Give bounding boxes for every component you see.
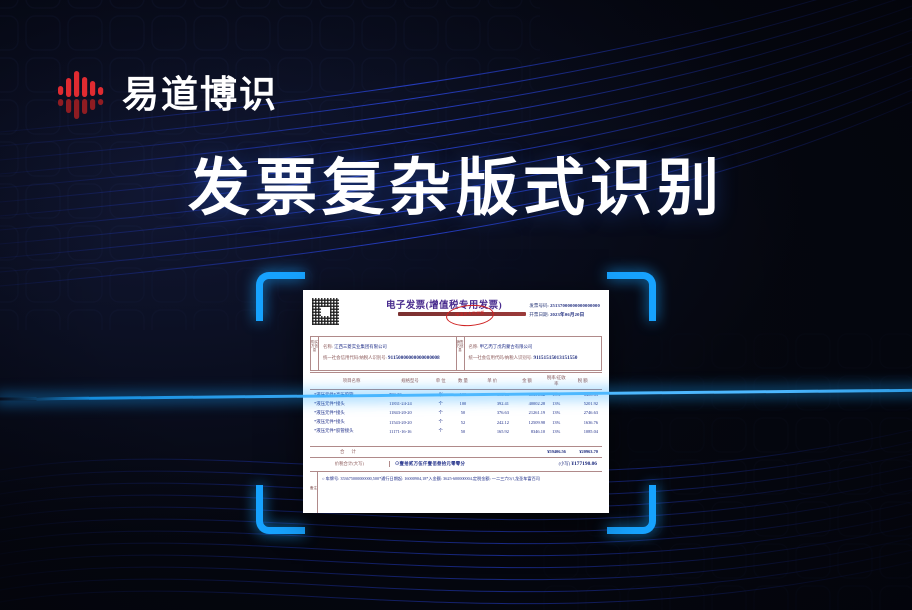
invoice-amount-in-words: 价税合计(大写) ⊙壹拾贰万伍仟壹佰叁拾元零零分 (小写) ¥177190.06 <box>310 458 602 472</box>
buyer-block: 购买方信息 名称: 江西三菱实业集团有限公司 统一社会信用代码/纳税人识别号: … <box>311 337 456 370</box>
invoice-items-table: 项目名称 规格型号 单 位 数 量 单 价 金 额 税率/征收率 税 额 *液压 <box>310 372 602 436</box>
invoice-number-row: 发票号码: 25137000000000000000 <box>529 301 600 310</box>
invoice-date-row: 开票日期: 2023年06月20日 <box>529 310 600 319</box>
cell-qty: 100 <box>450 399 475 408</box>
buyer-code-label: 统一社会信用代码/纳税人识别号: <box>323 355 387 360</box>
cell-rate: 13% <box>545 399 567 408</box>
seller-name-label: 名称: <box>469 344 479 349</box>
promo-banner: 易道博识 发票复杂版式识别 电子发票(增值税专用发票) 增值税专用发票 <box>0 0 912 610</box>
cell-price: 376.63 <box>475 408 508 417</box>
remark-text: ○ 车牌号: 353675000000000,500*通行日期起: 160009… <box>318 472 602 513</box>
cell-price: 165.92 <box>475 427 508 436</box>
table-row: *液压元件*接头 11831-24-24 个 100 392.41 40002.… <box>310 399 602 408</box>
column-header-tax: 税 额 <box>567 373 602 390</box>
cell-unit: 个 <box>431 408 451 417</box>
cell-amount: 8346.10 <box>509 427 545 436</box>
cell-amount: 12509.98 <box>509 418 545 427</box>
totals-spacer <box>389 449 528 455</box>
totals-tax: ¥20963.70 <box>566 449 602 455</box>
cell-name: *液压元件*接头 <box>310 408 389 417</box>
column-header-unit: 单 位 <box>431 373 451 390</box>
brand-name: 易道博识 <box>122 76 278 113</box>
seller-tag: 销售方信息 <box>457 337 465 370</box>
column-header-rate: 税率/征收率 <box>545 373 567 390</box>
invoice-document: 电子发票(增值税专用发票) 增值税专用发票 发票号码: 251370000000… <box>303 290 609 513</box>
column-header-spec: 规格型号 <box>389 373 431 390</box>
table-header-row: 项目名称 规格型号 单 位 数 量 单 价 金 额 税率/征收率 税 额 <box>310 373 602 390</box>
scan-corner-top-left <box>256 272 305 321</box>
qr-code-icon <box>312 298 339 325</box>
cell-qty: 50 <box>450 427 475 436</box>
cell-price: 242.12 <box>475 418 508 427</box>
buyer-code-value: 91150000000000000008 <box>388 356 440 361</box>
amount-numeric-value: ¥177190.06 <box>571 461 597 467</box>
totals-label: 合 计 <box>310 449 389 455</box>
buyer-name-label: 名称: <box>323 344 333 349</box>
scan-viewport: 电子发票(增值税专用发票) 增值税专用发票 发票号码: 251370000000… <box>256 272 656 534</box>
cell-price: 392.41 <box>475 399 508 408</box>
cell-unit: 个 <box>431 427 451 436</box>
seller-code-label: 统一社会信用代码/纳税人识别号: <box>469 355 533 360</box>
table-row: *液压元件*胶管接头 11171-16-16 个 50 165.92 8346.… <box>310 427 602 436</box>
waveform-dots-icon <box>56 66 108 122</box>
cell-rate: 13% <box>545 408 567 417</box>
invoice-meta: 发票号码: 25137000000000000000 开票日期: 2023年06… <box>529 301 600 319</box>
cell-amount: 21261.19 <box>509 408 545 417</box>
invoice-remark: 备注 ○ 车牌号: 353675000000000,500*通行日期起: 160… <box>310 472 602 513</box>
invoice-totals-row: 合 计 ¥59406.56 ¥20963.70 <box>310 446 602 458</box>
amount-words-value: ⊙壹拾贰万伍仟壹佰叁拾元零零分 <box>389 461 559 467</box>
cell-name: *液压元件*胶管接头 <box>310 427 389 436</box>
cell-spec: 11543-20-20 <box>389 418 431 427</box>
column-header-price: 单 价 <box>475 373 508 390</box>
invoice-number-value: 25137000000000000000 <box>550 303 600 308</box>
seller-code-row: 统一社会信用代码/纳税人识别号: 91151515013151550 <box>469 352 599 364</box>
column-header-name: 项目名称 <box>310 373 389 390</box>
remark-tag: 备注 <box>310 472 318 513</box>
scan-corner-top-right <box>607 272 656 321</box>
cell-spec: 11843-20-20 <box>389 408 431 417</box>
cell-amount: 40002.28 <box>509 399 545 408</box>
cell-rate: 13% <box>545 418 567 427</box>
cell-tax: 5201.92 <box>567 399 602 408</box>
scan-corner-bottom-right <box>607 485 656 534</box>
amount-words-label: 价税合计(大写) <box>310 461 389 467</box>
brand-logo: 易道博识 <box>56 66 278 122</box>
seller-block: 销售方信息 名称: 甲乙丙丁戊内蒙古有限公司 统一社会信用代码/纳税人识别号: … <box>456 337 602 370</box>
invoice-stamp-text: 增值税专用发票 <box>447 309 493 318</box>
page-title: 发票复杂版式识别 <box>0 158 912 220</box>
amount-numeric: (小写) ¥177190.06 <box>559 461 602 467</box>
column-header-qty: 数 量 <box>450 373 475 390</box>
cell-spec: 11171-16-16 <box>389 427 431 436</box>
invoice-date-label: 开票日期: <box>529 312 549 317</box>
cell-unit: 个 <box>431 418 451 427</box>
column-header-amount: 金 额 <box>509 373 545 390</box>
buyer-name-value: 江西三菱实业集团有限公司 <box>334 344 387 349</box>
cell-spec: 11831-24-24 <box>389 399 431 408</box>
table-row: *液压元件*接头 11843-20-20 个 50 376.63 21261.1… <box>310 408 602 417</box>
buyer-tag: 购买方信息 <box>311 337 319 370</box>
invoice-header: 电子发票(增值税专用发票) 增值税专用发票 发票号码: 251370000000… <box>310 295 602 335</box>
cell-name: *液压元件*接头 <box>310 418 389 427</box>
seller-code-value: 91151515013151550 <box>534 356 578 361</box>
cell-unit: 个 <box>431 399 451 408</box>
invoice-parties: 购买方信息 名称: 江西三菱实业集团有限公司 统一社会信用代码/纳税人识别号: … <box>310 336 602 371</box>
invoice-title: 电子发票(增值税专用发票) <box>372 297 516 311</box>
scan-corner-bottom-left <box>256 485 305 534</box>
seller-name-value: 甲乙丙丁戊内蒙古有限公司 <box>480 344 533 349</box>
cell-rate: 13% <box>545 427 567 436</box>
buyer-name-row: 名称: 江西三菱实业集团有限公司 <box>323 341 453 352</box>
cell-name: *液压元件*接头 <box>310 399 389 408</box>
buyer-code-row: 统一社会信用代码/纳税人识别号: 91150000000000000008 <box>323 352 453 364</box>
cell-qty: 52 <box>450 418 475 427</box>
table-row: *液压元件*接头 11543-20-20 个 52 242.12 12509.9… <box>310 418 602 427</box>
amount-numeric-label: (小写) <box>559 461 571 466</box>
seller-name-row: 名称: 甲乙丙丁戊内蒙古有限公司 <box>469 341 599 352</box>
cell-tax: 2746.63 <box>567 408 602 417</box>
totals-amount: ¥59406.56 <box>528 449 566 455</box>
invoice-number-label: 发票号码: <box>529 303 549 308</box>
cell-qty: 50 <box>450 408 475 417</box>
invoice-date-value: 2023年06月20日 <box>550 312 584 317</box>
cell-tax: 1636.76 <box>567 418 602 427</box>
cell-tax: 1085.04 <box>567 427 602 436</box>
